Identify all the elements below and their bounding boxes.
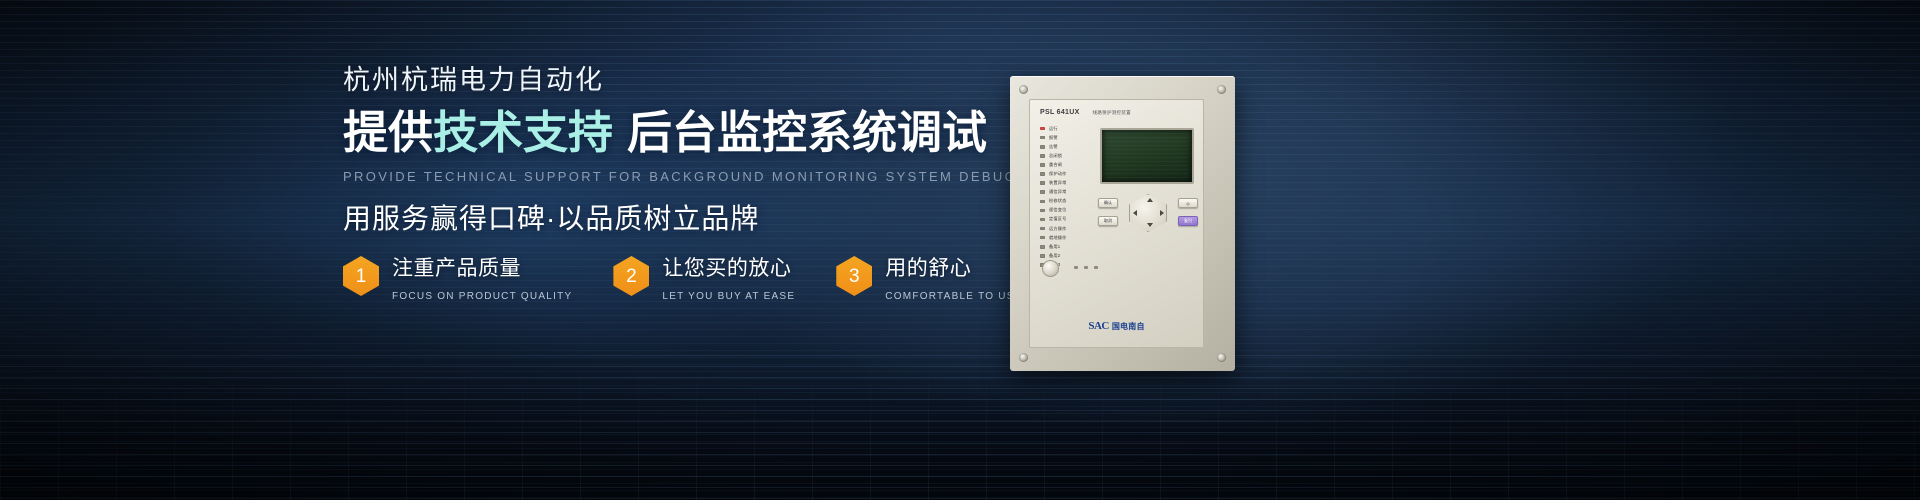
screw-icon [1019, 353, 1028, 362]
led-label: 报警 [1049, 135, 1058, 141]
led-label: 远方操作 [1049, 226, 1067, 232]
screw-icon [1217, 85, 1226, 94]
led-lamp-icon [1040, 172, 1045, 176]
led-row: 通信异常 [1040, 188, 1094, 197]
device-port-pin [1084, 266, 1088, 269]
device-lcd-screen [1100, 128, 1194, 184]
led-label: 备用2 [1049, 253, 1060, 259]
headline-subtitle-english: PROVIDE TECHNICAL SUPPORT FOR BACKGROUND… [343, 169, 983, 184]
led-row: 备用1 [1040, 242, 1094, 251]
headline-part-2-highlight: 技术支持 [433, 107, 613, 158]
led-label: 运行 [1049, 126, 1058, 132]
feature-label-en-3: COMFORTABLE TO USE [885, 291, 1022, 302]
led-lamp-icon [1040, 209, 1045, 213]
led-label: 通信异常 [1049, 189, 1067, 195]
led-label: 备用1 [1049, 244, 1060, 250]
led-lamp-icon [1040, 236, 1045, 240]
promo-banner: 杭州杭瑞电力自动化 提供技术支持后台监控系统调试 PROVIDE TECHNIC… [0, 0, 1920, 500]
feature-badge-1: 1 [343, 256, 379, 296]
led-lamp-icon [1040, 245, 1045, 249]
led-row: 运行 [1040, 124, 1094, 133]
feature-item-3: 3 用的舒心 COMFORTABLE TO USE [836, 252, 1022, 302]
led-lamp-icon [1040, 136, 1045, 140]
device-keypad: 确认 取消 ◎ 复归 [1098, 194, 1198, 254]
feature-label-en-1: FOCUS ON PRODUCT QUALITY [392, 291, 572, 302]
feature-badge-3: 3 [836, 256, 872, 296]
led-row: 告警 [1040, 142, 1094, 151]
feature-label-cn-2: 让您买的放心 [662, 252, 795, 282]
led-lamp-icon [1040, 190, 1045, 194]
led-lamp-icon [1040, 200, 1045, 204]
led-row: 遥信变位 [1040, 206, 1094, 215]
led-label: 装置异常 [1049, 180, 1067, 186]
arrow-right-icon [1160, 210, 1164, 216]
led-row: 就地操作 [1040, 233, 1094, 242]
led-label: 就地操作 [1049, 235, 1067, 241]
tagline: 用服务赢得口碑·以品质树立品牌 [343, 197, 983, 237]
headline-part-3: 后台监控系统调试 [627, 107, 987, 158]
product-image-relay-device: PSL 641UX 线路保护测控装置 运行 报警 告警 总闭锁 重合闸 保护动作… [1010, 76, 1235, 371]
background-floor-grid-vertical [0, 355, 1920, 500]
device-button-confirm[interactable]: 确认 [1098, 198, 1118, 208]
led-label: 检修状态 [1049, 198, 1067, 204]
device-mounting-plate: PSL 641UX 线路保护测控装置 运行 报警 告警 总闭锁 重合闸 保护动作… [1010, 76, 1235, 371]
led-row: 重合闸 [1040, 160, 1094, 169]
arrow-down-icon [1147, 223, 1153, 227]
device-front-panel: PSL 641UX 线路保护测控装置 运行 报警 告警 总闭锁 重合闸 保护动作… [1029, 99, 1204, 348]
screw-icon [1217, 353, 1226, 362]
led-indicator-panel: 运行 报警 告警 总闭锁 重合闸 保护动作 装置异常 通信异常 检修状态 遥信变… [1040, 124, 1094, 270]
device-brand-logo: SAC 国电南自 [1088, 320, 1144, 332]
led-lamp-icon [1040, 145, 1045, 149]
led-label: 告警 [1049, 144, 1058, 150]
feature-item-1: 1 注重产品质量 FOCUS ON PRODUCT QUALITY [343, 252, 572, 302]
led-row: 装置异常 [1040, 179, 1094, 188]
arrow-up-icon [1147, 198, 1153, 202]
device-button-reset[interactable]: 复归 [1178, 216, 1198, 226]
led-lamp-icon [1040, 163, 1045, 167]
led-lamp-icon [1040, 127, 1045, 131]
device-button-cancel[interactable]: 取消 [1098, 216, 1118, 226]
led-row: 定值区号 [1040, 215, 1094, 224]
led-row: 远方操作 [1040, 224, 1094, 233]
brand-name-cn: 国电南自 [1112, 321, 1145, 332]
feature-label-cn-3: 用的舒心 [885, 252, 1022, 282]
company-name: 杭州杭瑞电力自动化 [343, 66, 983, 96]
led-row: 检修状态 [1040, 197, 1094, 206]
screw-icon [1019, 85, 1028, 94]
led-label: 遥信变位 [1049, 207, 1067, 213]
feature-badge-2: 2 [613, 256, 649, 296]
device-port-pin [1094, 266, 1098, 269]
device-button-power[interactable]: ◎ [1178, 198, 1198, 208]
led-lamp-icon [1040, 254, 1045, 258]
feature-list: 1 注重产品质量 FOCUS ON PRODUCT QUALITY 2 让您买的… [343, 252, 1064, 302]
led-label: 总闭锁 [1049, 153, 1062, 159]
feature-item-2: 2 让您买的放心 LET YOU BUY AT EASE [613, 252, 795, 302]
led-row: 报警 [1040, 133, 1094, 142]
brand-mark-sac: SAC [1088, 320, 1109, 332]
led-lamp-icon [1040, 218, 1045, 222]
device-port-pin [1074, 266, 1078, 269]
device-model-number: PSL 641UX [1040, 109, 1080, 116]
device-model-row: PSL 641UX 线路保护测控装置 [1040, 109, 1195, 116]
arrow-left-icon [1133, 210, 1137, 216]
device-rotary-knob[interactable] [1042, 260, 1059, 277]
led-row: 总闭锁 [1040, 151, 1094, 160]
led-label: 保护动作 [1049, 171, 1067, 177]
feature-label-en-2: LET YOU BUY AT EASE [662, 291, 795, 302]
device-model-description: 线路保护测控装置 [1093, 110, 1131, 116]
led-label: 定值区号 [1049, 216, 1067, 222]
headline: 提供技术支持后台监控系统调试 [343, 108, 983, 158]
led-label: 重合闸 [1049, 162, 1062, 168]
led-lamp-icon [1040, 154, 1045, 158]
copy-block: 杭州杭瑞电力自动化 提供技术支持后台监控系统调试 PROVIDE TECHNIC… [343, 66, 983, 237]
feature-label-cn-1: 注重产品质量 [392, 252, 572, 282]
led-row: 备用2 [1040, 251, 1094, 260]
led-row: 保护动作 [1040, 169, 1094, 178]
headline-part-1: 提供 [343, 107, 433, 158]
led-lamp-icon [1040, 181, 1045, 185]
led-lamp-icon [1040, 227, 1045, 231]
